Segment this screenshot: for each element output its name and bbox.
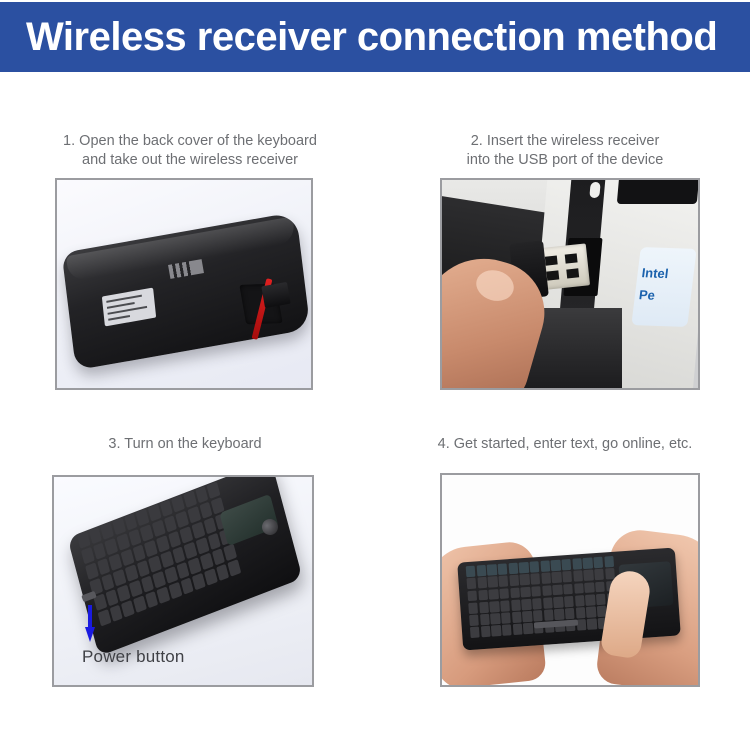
step-1-caption: 1. Open the back cover of the keyboard a… (0, 132, 380, 170)
photo-keyboard-back-cover (57, 180, 311, 388)
power-button-arrow-icon (85, 605, 95, 643)
intel-sticker-line-1: Intel (641, 265, 693, 282)
steps-grid: 1. Open the back cover of the keyboard a… (0, 72, 750, 750)
step-1: 1. Open the back cover of the keyboard a… (0, 132, 380, 170)
laptop-black-key-block (617, 178, 699, 204)
step-4: 4. Get started, enter text, go online, e… (380, 435, 750, 454)
photo-power-on-keyboard: Power button (54, 477, 312, 685)
step-4-caption: 4. Get started, enter text, go online, e… (380, 435, 750, 454)
step-2-caption: 2. Insert the wireless receiver into the… (380, 132, 750, 170)
photo-using-keyboard (442, 475, 698, 685)
step-4-photo (440, 473, 700, 687)
intel-sticker: Intel Pe (631, 247, 696, 327)
intel-sticker-line-2: Pe (638, 287, 690, 304)
step-3: 3. Turn on the keyboard Power (0, 435, 370, 454)
wireless-receiver-dongle (261, 282, 290, 308)
step-3-caption: 3. Turn on the keyboard (0, 435, 370, 454)
page-title: Wireless receiver connection method (26, 17, 717, 57)
step-2-photo: Intel Pe (440, 178, 700, 390)
photo-usb-insertion: Intel Pe (442, 180, 698, 388)
step-2: 2. Insert the wireless receiver into the… (380, 132, 750, 170)
step-1-photo (55, 178, 313, 390)
step-3-photo: Power button (52, 475, 314, 687)
power-button-label: Power button (82, 647, 185, 667)
page-header-banner: Wireless receiver connection method (0, 2, 750, 72)
